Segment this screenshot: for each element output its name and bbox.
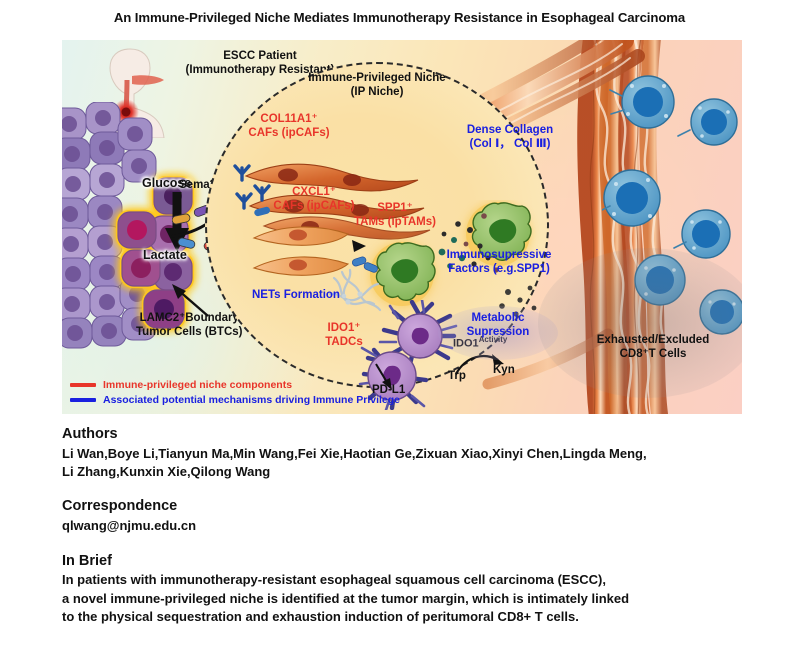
col11a1-ipcaf-label: COL11A1⁺ CAFs (ipCAFs) <box>234 113 344 140</box>
spacer-1 <box>62 481 792 496</box>
cxcl1-label-line2: CAFs (ipCAFs) <box>258 200 370 214</box>
page-title: An Immune-Privileged Niche Mediates Immu… <box>0 10 799 25</box>
exclusion-haze <box>538 248 742 398</box>
ido1-label-line1: IDO1⁺ <box>312 322 376 336</box>
cxcl1-label-line1: CXCL1⁺ <box>258 186 370 200</box>
legend-swatch-red <box>70 383 96 387</box>
ido1-label-line2: TADCs <box>312 336 376 350</box>
col11a1-label-line1: COL11A1⁺ <box>234 113 344 127</box>
escc-patient-line1: ESCC Patient <box>170 50 350 64</box>
cxcl1-ipcaf-label: CXCL1⁺ CAFs (ipCAFs) <box>258 186 370 213</box>
spacer-2 <box>62 536 792 551</box>
niche-label-line1: Immune-Privileged Niche <box>292 72 462 86</box>
metabolic-line2: Supression <box>448 326 548 340</box>
correspondence-heading: Correspondence <box>62 496 792 517</box>
in-brief-line-2: a novel immune-privileged niche is ident… <box>62 590 792 608</box>
authors-line-1: Li Wan,Boye Li,Tianyun Ma,Min Wang,Fei X… <box>62 445 792 463</box>
exhausted-cd8-label: Exhausted/Excluded CD8⁺T Cells <box>568 334 738 361</box>
metabolic-line1: Metabolic <box>448 312 548 326</box>
btc-label: LAMC2⁺Boundary Tumor Cells (BTCs) <box>136 312 243 339</box>
btc-label-line1: LAMC2⁺Boundary <box>136 312 243 326</box>
in-brief-heading: In Brief <box>62 551 792 572</box>
niche-label-line2: (IP Niche) <box>292 86 462 100</box>
in-brief-line-1: In patients with immunotherapy-resistant… <box>62 571 792 589</box>
niche-label: Immune-Privileged Niche (IP Niche) <box>292 72 462 99</box>
btc-label-line2: Tumor Cells (BTCs) <box>136 326 243 340</box>
dense-collagen-line2: (Col Ⅰ， Col Ⅲ) <box>440 138 580 152</box>
col11a1-label-line2: CAFs (ipCAFs) <box>234 127 344 141</box>
metabolic-suppression-label: Metabolic Supression <box>448 312 548 339</box>
authors-heading: Authors <box>62 424 792 445</box>
correspondence-email[interactable]: qlwang@njmu.edu.cn <box>62 517 792 535</box>
authors-line-2: Li Zhang,Kunxin Xie,Qilong Wang <box>62 463 792 481</box>
legend-label-mechanisms: Associated potential mechanisms driving … <box>103 394 400 406</box>
immunosup-line2: Factors (e.g.SPP1) <box>434 263 564 277</box>
immunosuppressive-factors-label: Immunosupressive Factors (e.g.SPP1) <box>434 249 564 276</box>
dense-collagen-label: Dense Collagen (Col Ⅰ， Col Ⅲ) <box>440 124 580 151</box>
abstract-text-block: Authors Li Wan,Boye Li,Tianyun Ma,Min Wa… <box>62 424 792 626</box>
exhausted-line1: Exhausted/Excluded <box>568 334 738 348</box>
legend-item-niche-components: Immune-privileged niche components <box>70 379 400 391</box>
ido1-tadc-label: IDO1⁺ TADCs <box>312 322 376 349</box>
graphical-abstract-figure: Glucose Lactate LAMC2⁺Boundary Tumor Cel… <box>62 40 742 414</box>
legend-label-niche-components: Immune-privileged niche components <box>103 379 292 391</box>
immunosup-line1: Immunosupressive <box>434 249 564 263</box>
exhausted-line2: CD8⁺T Cells <box>568 348 738 362</box>
in-brief-line-3: to the physical sequestration and exhaus… <box>62 608 792 626</box>
legend-swatch-blue <box>70 398 96 402</box>
figure-legend: Immune-privileged niche components Assoc… <box>70 376 400 406</box>
trp-label: Trp <box>448 370 466 384</box>
kyn-label: Kyn <box>493 364 515 378</box>
dense-collagen-line1: Dense Collagen <box>440 124 580 138</box>
legend-item-mechanisms: Associated potential mechanisms driving … <box>70 394 400 406</box>
nets-formation-label: NETs Formation <box>252 289 340 303</box>
